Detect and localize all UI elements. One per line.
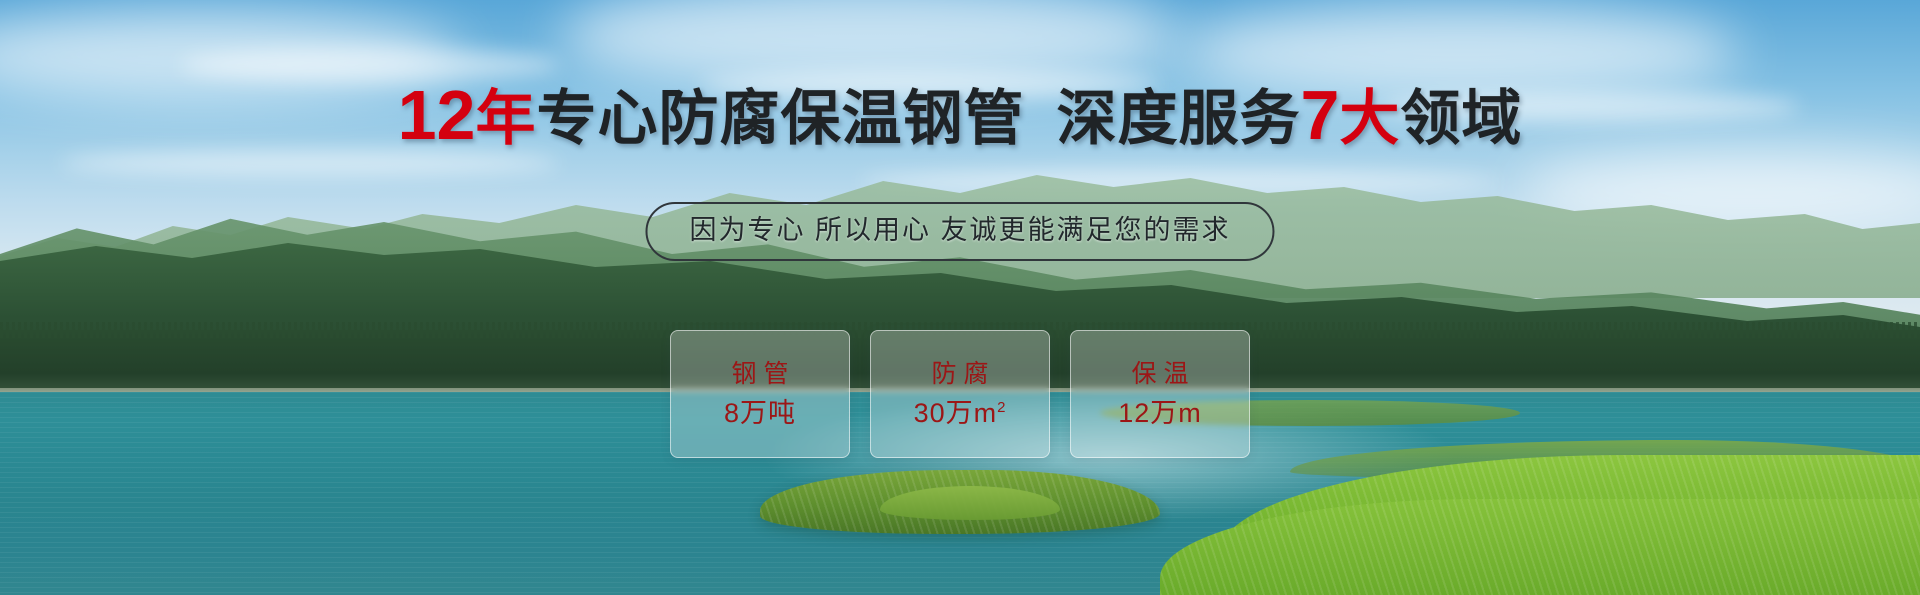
stat-card-value: 30万m2: [914, 395, 1007, 431]
hero-banner: 12年专心防腐保温钢管深度服务7大领域 因为专心 所以用心 友诚更能满足您的需求…: [0, 0, 1920, 595]
headline-service-text: 深度服务: [1056, 85, 1300, 152]
stat-card-label: 保温: [1124, 357, 1195, 391]
stat-value-text: 12万m: [1118, 398, 1202, 428]
banner-subtitle-pill: 因为专心 所以用心 友诚更能满足您的需求: [645, 202, 1274, 261]
stat-card-steel-pipe: 钢管 8万吨: [670, 330, 850, 458]
banner-headline: 12年专心防腐保温钢管深度服务7大领域: [0, 84, 1920, 150]
stat-card-label: 钢管: [724, 357, 795, 391]
stat-card-insulation: 保温 12万m: [1070, 330, 1250, 458]
stat-card-group: 钢管 8万吨 防腐 30万m2 保温 12万m: [670, 330, 1250, 458]
headline-fields-number: 7: [1300, 76, 1339, 154]
stat-card-anticorrosion: 防腐 30万m2: [870, 330, 1050, 458]
stat-card-value: 12万m: [1118, 395, 1202, 431]
stat-value-text: 8万吨: [724, 398, 796, 428]
headline-years-unit: 年: [475, 85, 536, 152]
stat-value-superscript: 2: [997, 399, 1006, 416]
headline-fields-unit: 大: [1339, 85, 1400, 152]
headline-main-text: 专心防腐保温钢管: [536, 85, 1024, 152]
banner-content: 12年专心防腐保温钢管深度服务7大领域 因为专心 所以用心 友诚更能满足您的需求…: [0, 0, 1920, 595]
stat-card-label: 防腐: [924, 357, 995, 391]
stat-value-text: 30万m: [914, 398, 998, 428]
headline-fields-text: 领域: [1400, 85, 1522, 152]
headline-years-number: 12: [398, 76, 476, 154]
stat-card-value: 8万吨: [724, 395, 796, 431]
